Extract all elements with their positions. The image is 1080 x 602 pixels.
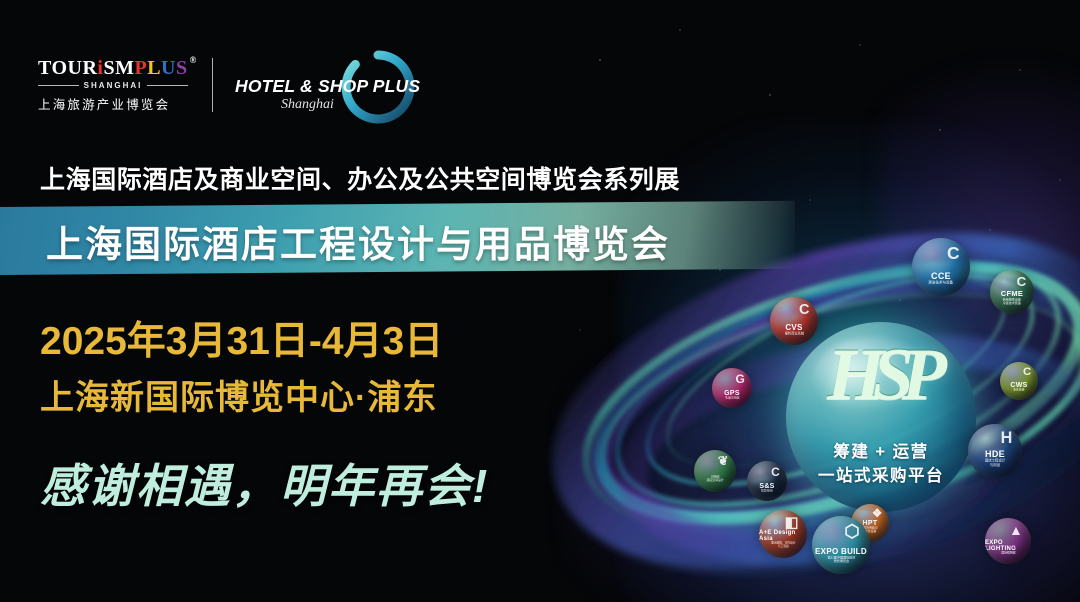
brand-badge[interactable]: GGPS礼品与包装 <box>712 368 752 408</box>
event-date: 2025年3月31日-4月3日 <box>40 310 443 366</box>
badge-mark-icon: C <box>799 303 809 317</box>
wordmark-part-u: U <box>161 58 176 78</box>
badge-chinese-label: 礼品与包装 <box>725 397 739 400</box>
registered-mark-icon: ® <box>190 56 197 65</box>
band-title: 上海国际酒店工程设计与用品博览会 <box>46 214 670 268</box>
wordmark-part-l: L <box>147 58 161 78</box>
badge-chinese-label: 便利商业系统 <box>784 332 803 336</box>
tourism-chinese-name: 上海旅游产业博览会 <box>38 94 188 113</box>
badge-chinese-label: 智慧空间 <box>761 490 773 493</box>
brand-badge[interactable]: CS&S智慧空间 <box>747 461 787 501</box>
farewell-slogan: 感谢相遇，明年再会! <box>40 450 489 516</box>
badge-chinese-label: 可持续酒店空间设计 <box>706 476 723 483</box>
rule-left-divider <box>38 85 79 86</box>
badge-mark-icon: C <box>1023 367 1031 378</box>
badge-chinese-label: 亚洲建筑、室内设计与工程展 <box>771 542 795 548</box>
badge-mark-icon: ◧ <box>785 516 799 530</box>
badge-mark-icon: ❖ <box>872 509 882 520</box>
badge-abbr: A+E Design Asia <box>759 530 807 542</box>
badge-chinese-label: 第32届中国国际建材暨管博览会 <box>827 556 855 563</box>
badge-mark-icon: ▲ <box>1009 524 1023 538</box>
brand-badge[interactable]: CCWS净水系统 <box>1000 362 1038 400</box>
badge-mark-icon: C <box>771 466 780 478</box>
badge-chinese-label: 清洁技术与设备 <box>929 281 954 285</box>
badge-chinese-label: 商用厨房设备冷链技术装备 <box>1003 298 1021 305</box>
tourism-city-rule: SHANGHAI <box>38 81 188 90</box>
hotel-shop-plus-logo[interactable]: HOTEL & SHOP PLUS Shanghai <box>235 46 395 124</box>
brand-badge[interactable]: ❦可持续酒店空间设计 <box>694 450 736 492</box>
wordmark-part-sm: SM <box>103 58 134 78</box>
badge-abbr: EXPO BUILD <box>815 548 867 556</box>
wordmark-part-p: P <box>134 58 147 78</box>
badge-mark-icon: C <box>1017 275 1027 288</box>
badge-chinese-label: 国际照明展 <box>1001 552 1015 555</box>
wordmark-part-tour: TOUR <box>38 58 97 78</box>
poster-canvas: TOURiSMPLUS® SHANGHAI 上海旅游产业博览会 <box>0 0 1080 602</box>
sphere-tagline-line1: 筹建 + 运营 <box>786 438 976 462</box>
wordmark-part-s: S <box>176 58 188 78</box>
tourism-city-label: SHANGHAI <box>84 81 143 90</box>
tourism-plus-logo[interactable]: TOURiSMPLUS® SHANGHAI 上海旅游产业博览会 <box>38 58 188 113</box>
brand-badge[interactable]: HHDE酒店工程设计与用品 <box>968 424 1022 478</box>
brand-badge[interactable]: CCCE清洁技术与设备 <box>912 238 970 296</box>
badge-abbr: CFME <box>1001 290 1023 298</box>
rule-right-divider <box>147 85 188 86</box>
logo-divider <box>212 58 213 112</box>
tourism-plus-wordmark: TOURiSMPLUS® <box>38 58 188 78</box>
hsp-sphere: HSP 筹建 + 运营 一站式采购平台 <box>786 322 976 512</box>
brand-badge[interactable]: CCVS便利商业系统 <box>770 297 818 345</box>
brand-badge[interactable]: ◧A+E Design Asia亚洲建筑、室内设计与工程展 <box>759 510 807 558</box>
hsp-title: HOTEL & SHOP PLUS <box>235 76 420 97</box>
badge-mark-icon: H <box>1001 430 1013 446</box>
brand-badge[interactable]: ⬡EXPO BUILD第32届中国国际建材暨管博览会 <box>812 516 870 574</box>
badge-mark-icon: ❦ <box>718 455 729 468</box>
sphere-tagline-line2: 一站式采购平台 <box>786 462 976 486</box>
hsp-subtitle: Shanghai <box>281 97 334 113</box>
brand-badge[interactable]: ▲EXPO LIGHTING国际照明展 <box>985 518 1031 564</box>
badge-mark-icon: ⬡ <box>844 523 859 540</box>
badge-mark-icon: C <box>947 245 960 262</box>
event-venue: 上海新国际博览中心·浦东 <box>40 370 437 419</box>
series-title: 上海国际酒店及商业空间、办公及公共空间博览会系列展 <box>40 160 680 196</box>
badge-chinese-label: 酒店工程设计与用品 <box>985 459 1005 467</box>
brand-badge[interactable]: CCFME商用厨房设备冷链技术装备 <box>990 270 1034 314</box>
badge-mark-icon: G <box>735 373 744 385</box>
badge-chinese-label: 净水系统 <box>1013 389 1025 392</box>
logo-lockup: TOURiSMPLUS® SHANGHAI 上海旅游产业博览会 <box>38 46 395 124</box>
badge-abbr: CVS <box>785 324 802 332</box>
hsp-monogram: HSP <box>786 338 976 412</box>
